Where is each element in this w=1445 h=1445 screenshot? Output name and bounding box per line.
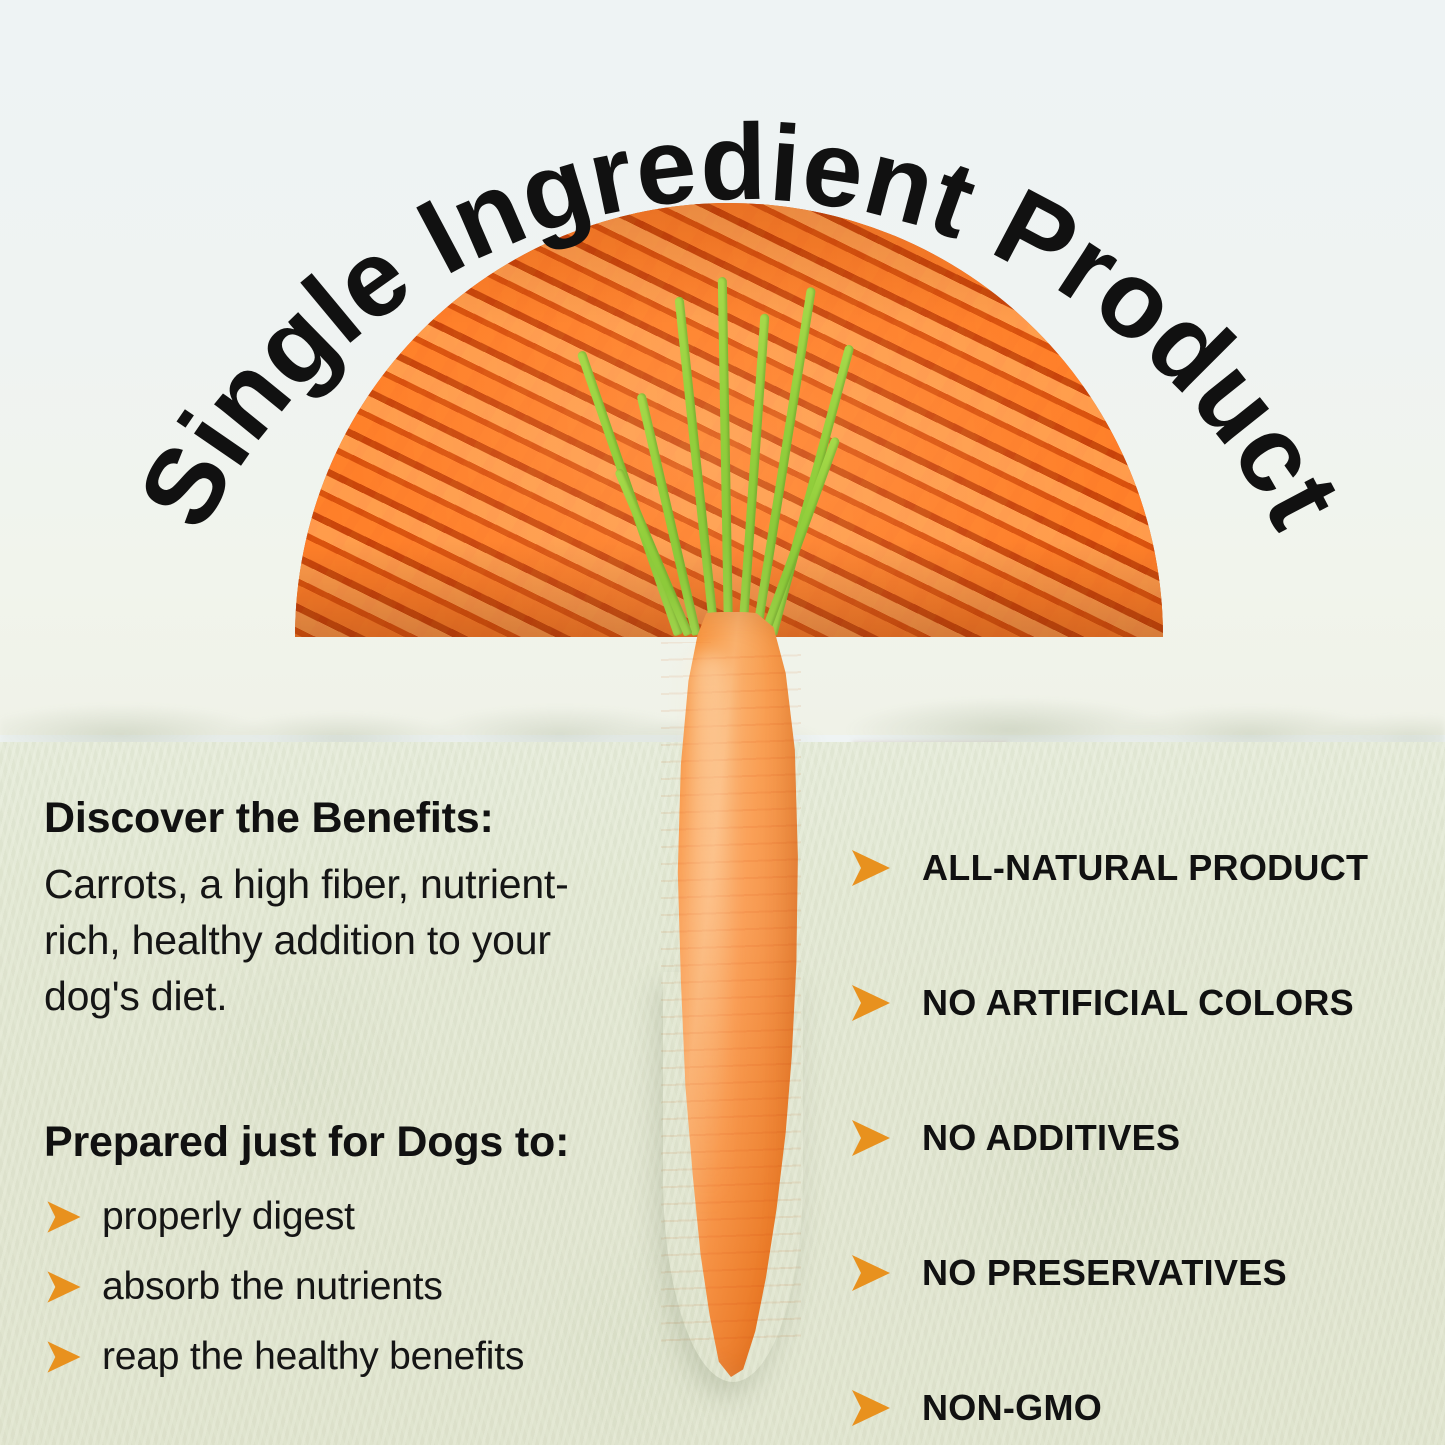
benefits-block: Discover the Benefits: Carrots, a high f… (44, 796, 644, 1024)
list-item-label: ALL-NATURAL PRODUCT (922, 847, 1368, 889)
list-item: NO PRESERVATIVES (848, 1205, 1428, 1340)
list-item-label: reap the healthy benefits (102, 1335, 524, 1379)
list-item: properly digest (44, 1182, 684, 1252)
arrow-right-icon (848, 980, 894, 1026)
claims-list: ALL-NATURAL PRODUCT NO ARTIFICIAL COLORS… (848, 800, 1428, 1445)
list-item-label: NO ADDITIVES (922, 1117, 1180, 1159)
carrot-highlight (689, 652, 727, 1212)
arrow-right-icon (848, 1250, 894, 1296)
arrow-right-icon (44, 1197, 84, 1237)
arrow-right-icon (44, 1267, 84, 1307)
list-item-label: NON-GMO (922, 1387, 1102, 1429)
list-item-label: NO ARTIFICIAL COLORS (922, 982, 1354, 1024)
list-item-label: NO PRESERVATIVES (922, 1252, 1287, 1294)
list-item: reap the healthy benefits (44, 1322, 684, 1392)
list-item: absorb the nutrients (44, 1252, 684, 1322)
list-item: NO ARTIFICIAL COLORS (848, 935, 1428, 1070)
carrot-stem (718, 277, 733, 635)
arrow-right-icon (848, 1115, 894, 1161)
list-item: NO ADDITIVES (848, 1070, 1428, 1205)
arrow-right-icon (44, 1337, 84, 1377)
prepared-list: properly digest absorb the nutrients rea… (44, 1182, 684, 1392)
list-item-label: properly digest (102, 1195, 355, 1239)
list-item: NON-GMO (848, 1340, 1428, 1445)
benefits-heading: Discover the Benefits: (44, 796, 644, 841)
list-item-label: absorb the nutrients (102, 1265, 443, 1309)
list-item: ALL-NATURAL PRODUCT (848, 800, 1428, 935)
carrot-greens (640, 255, 830, 635)
arrow-right-icon (848, 1385, 894, 1431)
benefits-paragraph: Carrots, a high fiber, nutrient-rich, he… (44, 857, 644, 1024)
product-infographic: Single Ingredient Product Discover the B… (0, 0, 1445, 1445)
arrow-right-icon (848, 845, 894, 891)
prepared-heading: Prepared just for Dogs to: (44, 1118, 664, 1167)
